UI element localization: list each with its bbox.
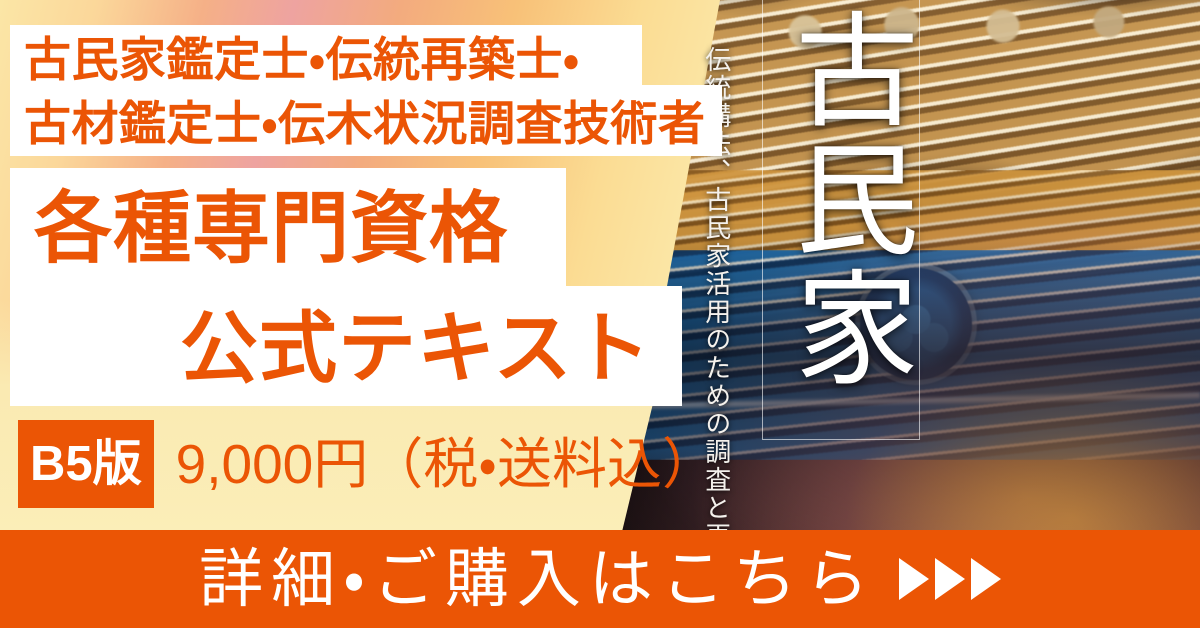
price-amount: 9,000円（税・送料込）	[176, 420, 717, 508]
headline-line-2: 公式テキスト	[10, 288, 682, 408]
triangle-right-icon	[899, 558, 929, 600]
qualifications-line-2: 古材鑑定士・伝木状況調査技術者	[10, 92, 722, 156]
book-cover-title: 古民家	[770, 6, 910, 426]
cta-arrow-group	[899, 558, 1001, 600]
triangle-right-icon	[971, 558, 1001, 600]
format-badge: B5版	[18, 420, 154, 508]
triangle-right-icon	[935, 558, 965, 600]
promo-banner: 古民家 伝統構法、古民家活用のための調査と再生の 古民家鑑定士・伝統再築士・ 古…	[0, 0, 1200, 628]
price-row: B5版 9,000円（税・送料込）	[18, 420, 717, 508]
cta-bar[interactable]: 詳細・ご購入はこちら	[0, 530, 1200, 628]
qualifications-card: 古民家鑑定士・伝統再築士・ 古材鑑定士・伝木状況調査技術者	[10, 25, 722, 156]
cta-label: 詳細・ご購入はこちら	[199, 530, 877, 628]
qualifications-line-1: 古民家鑑定士・伝統再築士・	[10, 25, 722, 92]
